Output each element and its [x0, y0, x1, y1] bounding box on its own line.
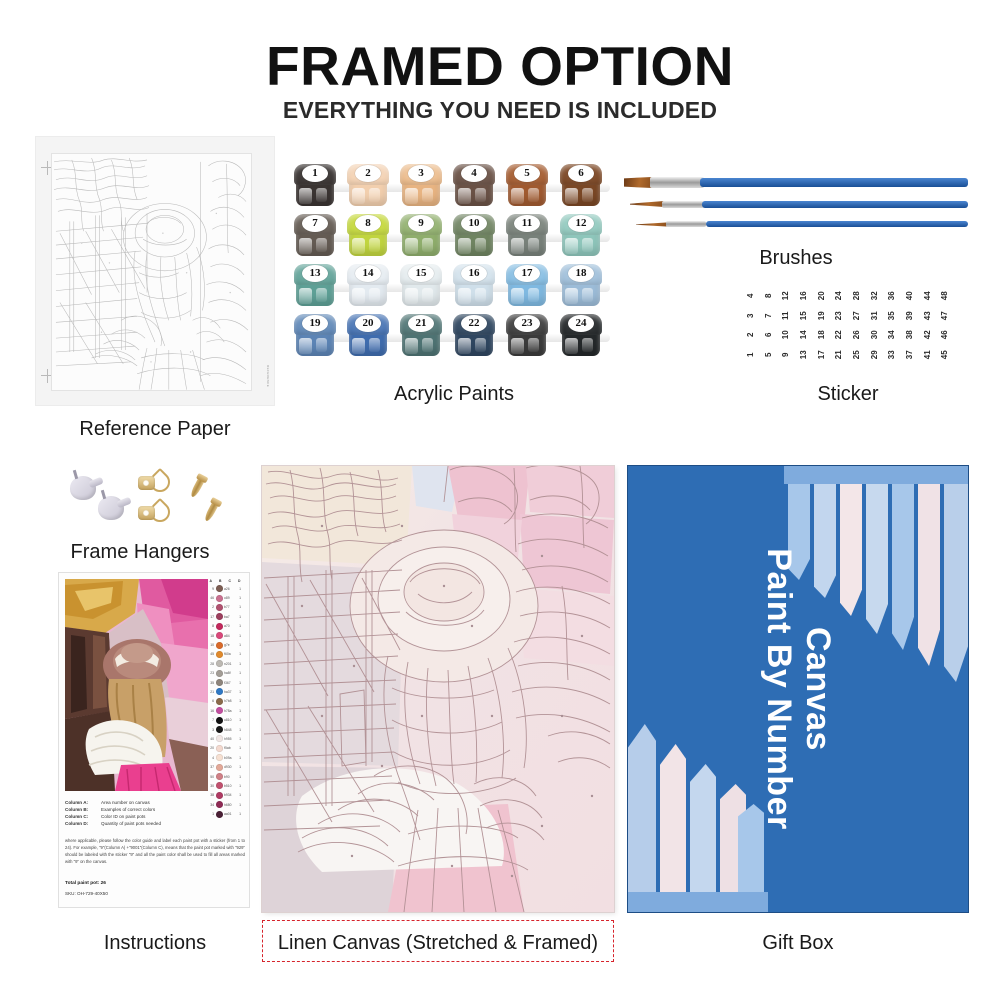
pot-gloss — [582, 338, 593, 352]
legend-quantity: 1 — [237, 784, 241, 788]
pot-gloss — [565, 188, 578, 204]
legend-area-number: 38 — [206, 793, 214, 797]
pot-number: 17 — [522, 268, 533, 279]
acrylic-paints-group: 123456789101112131415161718192021222324 — [294, 164, 614, 360]
gift-box: Canvas Paint By Number — [628, 466, 968, 912]
d-ring-hanger-icon — [138, 472, 170, 494]
pot-number-badge: 18 — [568, 265, 594, 282]
paint-pot-14: 14 — [347, 264, 389, 308]
page-title: FRAMED OPTION — [0, 34, 1000, 98]
pot-gloss — [316, 238, 327, 252]
caption-instructions: Instructions — [30, 932, 280, 955]
pot-gloss — [299, 288, 312, 304]
legend-quantity: 1 — [237, 718, 241, 722]
legend-quantity: 1 — [237, 793, 241, 797]
paint-pot-8: 8 — [347, 214, 389, 258]
instructions-column-label: Column A: — [65, 799, 101, 806]
pot-gloss — [422, 338, 433, 352]
legend-color-swatch — [216, 670, 223, 677]
pot-gloss — [458, 338, 471, 354]
plastic-hook-icon — [98, 496, 124, 520]
pot-number-badge: 15 — [408, 265, 434, 282]
legend-row: 30b5101 — [206, 781, 244, 790]
pot-gloss — [458, 238, 471, 254]
pot-gloss — [565, 288, 578, 304]
sticker-number: 25 — [847, 345, 867, 363]
screw-icon — [203, 500, 220, 523]
pot-number-badge: 16 — [461, 265, 487, 282]
sticker-number: 38 — [900, 326, 920, 344]
legend-row: 16h78a1 — [206, 706, 244, 715]
pot-gloss — [405, 238, 418, 254]
legend-color-swatch — [216, 585, 223, 592]
sticker-number: 26 — [847, 326, 867, 344]
giftbox-text: Canvas Paint By Number — [759, 548, 837, 829]
pot-number-badge: 22 — [461, 315, 487, 332]
pot-gloss — [565, 238, 578, 254]
caption-frame-hangers: Frame Hangers — [0, 541, 280, 564]
pot-number-badge: 13 — [302, 265, 328, 282]
screw-icon — [189, 476, 206, 499]
legend-color-id: ha37 — [224, 690, 237, 694]
giftbox-stripe — [918, 484, 940, 666]
frame-hangers-group — [62, 468, 262, 548]
pot-number: 3 — [418, 168, 424, 179]
legend-color-id: h848 — [224, 728, 237, 732]
pot-gloss — [422, 288, 433, 302]
pot-number: 9 — [418, 218, 424, 229]
legend-row: 40h9551 — [206, 734, 244, 743]
paint-pot-7: 7 — [294, 214, 336, 258]
giftbox-stripe-band-bottom — [628, 892, 768, 912]
legend-row: 35f3671 — [206, 678, 244, 687]
giftbox-stripe — [840, 484, 862, 616]
legend-quantity: 1 — [237, 652, 241, 656]
pot-number-badge: 21 — [408, 315, 434, 332]
legend-row: 10g7e1 — [206, 640, 244, 649]
legend-row: 45f60a1 — [206, 650, 244, 659]
giftbox-stripe — [690, 764, 716, 892]
legend-color-swatch — [216, 679, 223, 686]
legend-color-swatch — [216, 613, 223, 620]
instructions-paragraph: where applicable, please follow the colo… — [65, 837, 245, 865]
legend-area-number: 9 — [206, 587, 214, 591]
sticker-number: 35 — [882, 306, 902, 324]
pot-number-badge: 6 — [568, 165, 594, 182]
pot-number: 4 — [471, 168, 477, 179]
legend-area-number: 30 — [206, 784, 214, 788]
instructions-column-label: Column B: — [65, 806, 101, 813]
instructions-sheet: A B C D 9a26146o8912b77117ba718a70118a84… — [58, 572, 250, 908]
sticker-number: 36 — [882, 287, 902, 305]
paint-pot-3: 3 — [400, 164, 442, 208]
legend-area-number: 4 — [206, 756, 214, 760]
legend-color-id: ha8f — [224, 671, 237, 675]
pot-number: 8 — [365, 218, 371, 229]
legend-row: 46o891 — [206, 593, 244, 602]
legend-color-id: n201 — [224, 662, 237, 666]
pot-number: 13 — [310, 268, 321, 279]
legend-quantity: 1 — [237, 671, 241, 675]
legend-quantity: 1 — [237, 662, 241, 666]
legend-color-swatch — [216, 754, 223, 761]
giftbox-line1: Canvas — [799, 627, 837, 751]
paint-pot-19: 19 — [294, 314, 336, 358]
pot-gloss — [511, 188, 524, 204]
pot-number-badge: 12 — [568, 215, 594, 232]
legend-header-d: D — [238, 579, 240, 583]
paint-pot-13: 13 — [294, 264, 336, 308]
pot-number: 1 — [312, 168, 318, 179]
pot-number: 24 — [576, 318, 587, 329]
sticker-number: 46 — [935, 326, 955, 344]
pot-gloss — [528, 238, 539, 252]
legend-color-id: u810 — [224, 718, 237, 722]
legend-color-swatch — [216, 717, 223, 724]
brush-flat — [624, 178, 968, 187]
legend-quantity: 1 — [237, 681, 241, 685]
sticker-number: 12 — [776, 287, 796, 305]
legend-row: 4b09a1 — [206, 753, 244, 762]
pot-gloss — [369, 238, 380, 252]
legend-color-swatch — [216, 623, 223, 630]
paint-pot-11: 11 — [506, 214, 548, 258]
legend-color-swatch — [216, 764, 223, 771]
instructions-column-desc: Color ID on paint pots — [101, 813, 245, 820]
pot-gloss — [369, 288, 380, 302]
legend-area-number: 2 — [206, 605, 214, 609]
sticker-number: 1 — [741, 345, 761, 363]
giftbox-stripe — [628, 724, 656, 892]
paint-pot-18: 18 — [560, 264, 602, 308]
pot-number: 22 — [469, 318, 480, 329]
sticker-number: 34 — [882, 326, 902, 344]
legend-area-number: 21 — [206, 690, 214, 694]
pot-number: 20 — [363, 318, 374, 329]
legend-area-number: 16 — [206, 709, 214, 713]
legend-row: 6h7b81 — [206, 697, 244, 706]
pot-number: 12 — [576, 218, 587, 229]
legend-row: 8a701 — [206, 622, 244, 631]
pot-number: 16 — [469, 268, 480, 279]
legend-color-swatch — [216, 632, 223, 639]
pot-gloss — [422, 188, 433, 202]
caption-sticker: Sticker — [742, 383, 954, 406]
paint-pot-17: 17 — [506, 264, 548, 308]
pot-gloss — [316, 188, 327, 202]
legend-color-id: a70 — [224, 624, 237, 628]
legend-rows: 9a26146o8912b77117ba718a70118a84110g7e14… — [206, 584, 244, 819]
legend-color-swatch — [216, 782, 223, 789]
sticker-number: 28 — [847, 287, 867, 305]
instructions-artwork-svg — [65, 579, 208, 791]
pot-number-badge: 9 — [408, 215, 434, 232]
instructions-column-desc: Quantity of paint pots needed — [101, 820, 245, 827]
pot-gloss — [582, 188, 593, 202]
brush-handle — [702, 201, 968, 208]
paint-pot-5: 5 — [506, 164, 548, 208]
legend-color-id: ba7 — [224, 615, 237, 619]
legend-quantity: 1 — [237, 690, 241, 694]
sticker-number: 40 — [900, 287, 920, 305]
legend-area-number: 28 — [206, 662, 214, 666]
legend-quantity: 1 — [237, 765, 241, 769]
sticker-number: 23 — [829, 306, 849, 324]
pot-gloss — [299, 238, 312, 254]
pot-number-badge: 11 — [514, 215, 540, 232]
giftbox-stripe — [944, 484, 968, 682]
pot-number: 6 — [578, 168, 584, 179]
paint-pot-23: 23 — [506, 314, 548, 358]
brush-ferrule — [662, 201, 704, 208]
canvas-lineart-svg — [262, 466, 614, 912]
sticker-sheet: 4812162024283236404448371115192327313539… — [742, 286, 954, 364]
linen-canvas — [262, 466, 614, 912]
paint-pot-20: 20 — [347, 314, 389, 358]
legend-color-id: f60a — [224, 652, 237, 656]
paint-pot-21: 21 — [400, 314, 442, 358]
legend-area-number: 10 — [206, 643, 214, 647]
legend-color-swatch — [216, 698, 223, 705]
legend-area-number: 50 — [206, 775, 214, 779]
pot-number: 21 — [416, 318, 427, 329]
legend-quantity: 1 — [237, 709, 241, 713]
legend-row: 18a841 — [206, 631, 244, 640]
instructions-column-row: Column A:Area number on canvas — [65, 799, 245, 806]
legend-color-id: h7b8 — [224, 699, 237, 703]
legend-header-a: A — [210, 579, 212, 583]
pot-number: 15 — [416, 268, 427, 279]
pot-gloss — [352, 238, 365, 254]
legend-quantity: 1 — [237, 643, 241, 647]
pot-number-badge: 23 — [514, 315, 540, 332]
sticker-number: 27 — [847, 306, 867, 324]
pot-number-badge: 7 — [302, 215, 328, 232]
sticker-number: 15 — [794, 306, 814, 324]
caption-brushes: Brushes — [624, 247, 968, 270]
pot-gloss — [299, 338, 312, 354]
sticker-number: 24 — [829, 287, 849, 305]
brush-round-fine — [636, 220, 968, 229]
pot-gloss — [422, 238, 433, 252]
pot-gloss — [511, 288, 524, 304]
pot-gloss — [475, 238, 486, 252]
legend-area-number: 46 — [206, 596, 214, 600]
product-infographic: FRAMED OPTION EVERYTHING YOU NEED IS INC… — [0, 0, 1000, 1000]
legend-color-id: a84 — [224, 634, 237, 638]
legend-color-id: f367 — [224, 681, 237, 685]
brush-ferrule — [666, 221, 706, 227]
pot-gloss — [369, 188, 380, 202]
pot-number: 10 — [469, 218, 480, 229]
instructions-sku: SKU: OH-729-40X50 — [65, 891, 108, 896]
legend-header-c: C — [229, 579, 231, 583]
brush-bristle — [636, 222, 668, 227]
pot-gloss — [511, 338, 524, 354]
sticker-number-grid: 4812162024283236404448371115192327313539… — [742, 286, 954, 364]
sticker-number: 48 — [935, 287, 955, 305]
paint-pot-22: 22 — [453, 314, 495, 358]
legend-color-id: b09a — [224, 756, 237, 760]
sticker-number: 45 — [935, 345, 955, 363]
pot-gloss — [528, 288, 539, 302]
legend-row: 50b901 — [206, 772, 244, 781]
pot-gloss — [582, 238, 593, 252]
legend-quantity: 1 — [237, 737, 241, 741]
pot-number-badge: 5 — [514, 165, 540, 182]
sticker-number: 33 — [882, 345, 902, 363]
pot-number: 18 — [576, 268, 587, 279]
paint-pot-9: 9 — [400, 214, 442, 258]
pot-number-badge: 20 — [355, 315, 381, 332]
pot-gloss — [405, 288, 418, 304]
legend-row: 37d9301 — [206, 762, 244, 771]
pot-number-badge: 2 — [355, 165, 381, 182]
giftbox-stripe-band-top — [784, 466, 968, 484]
caption-reference-paper: Reference Paper — [0, 418, 310, 441]
legend-area-number: 45 — [206, 652, 214, 656]
instructions-column-label: Column C: — [65, 813, 101, 820]
paint-pot-15: 15 — [400, 264, 442, 308]
legend-quantity: 1 — [237, 624, 241, 628]
legend-color-id: g7e — [224, 643, 237, 647]
legend-row: 3h8481 — [206, 725, 244, 734]
sticker-number: 9 — [776, 345, 796, 363]
pot-number-badge: 24 — [568, 315, 594, 332]
pot-number-badge: 17 — [514, 265, 540, 282]
pot-gloss — [458, 188, 471, 204]
caption-gift-box: Gift Box — [628, 932, 968, 955]
sticker-number: 39 — [900, 306, 920, 324]
legend-color-id: b934 — [224, 793, 237, 797]
pot-number: 19 — [310, 318, 321, 329]
instructions-column-row: Column B:Examples of correct colors — [65, 806, 245, 813]
brush-bristle — [630, 201, 664, 207]
legend-header-b: B — [219, 579, 221, 583]
legend-color-swatch — [216, 604, 223, 611]
pot-number-badge: 19 — [302, 315, 328, 332]
legend-quantity: 1 — [237, 756, 241, 760]
paint-pot-16: 16 — [453, 264, 495, 308]
sticker-number: 21 — [829, 345, 849, 363]
legend-color-id: h955 — [224, 737, 237, 741]
legend-area-number: 17 — [206, 615, 214, 619]
page-subtitle: EVERYTHING YOU NEED IS INCLUDED — [0, 97, 1000, 124]
pot-gloss — [475, 188, 486, 202]
legend-color-swatch — [216, 726, 223, 733]
instructions-column-desc: Area number on canvas — [101, 799, 245, 806]
legend-area-number: 18 — [206, 634, 214, 638]
instructions-total-pots: Total paint pot: 26 — [65, 881, 106, 886]
pot-number-badge: 8 — [355, 215, 381, 232]
legend-color-swatch — [216, 595, 223, 602]
pot-number-badge: 14 — [355, 265, 381, 282]
legend-row: 23ha8f1 — [206, 669, 244, 678]
pot-gloss — [316, 288, 327, 302]
legend-color-swatch — [216, 688, 223, 695]
legend-quantity: 1 — [237, 728, 241, 732]
legend-row: 28n2011 — [206, 659, 244, 668]
paint-pot-12: 12 — [560, 214, 602, 258]
sticker-number: 10 — [776, 326, 796, 344]
pot-gloss — [369, 338, 380, 352]
legend-row: 20f5ab1 — [206, 744, 244, 753]
reference-paper-sidenote: REFERENCE — [266, 365, 270, 387]
legend-area-number: 6 — [206, 699, 214, 703]
brush-ferrule — [650, 177, 704, 188]
legend-row: 21ha371 — [206, 687, 244, 696]
legend-color-id: b510 — [224, 784, 237, 788]
pot-gloss — [405, 188, 418, 204]
caption-linen-canvas: Linen Canvas (Stretched & Framed) — [262, 932, 614, 955]
instructions-column-row: Column D:Quantity of paint pots needed — [65, 820, 245, 827]
brushes-group — [624, 172, 968, 252]
caption-acrylic-paints: Acrylic Paints — [294, 383, 614, 406]
pot-number: 7 — [312, 218, 318, 229]
paint-pot-10: 10 — [453, 214, 495, 258]
legend-quantity: 1 — [237, 699, 241, 703]
legend-color-id: o89 — [224, 596, 237, 600]
pot-gloss — [475, 288, 486, 302]
sticker-number: 4 — [741, 287, 761, 305]
sticker-number: 37 — [900, 345, 920, 363]
plastic-hook-icon — [70, 476, 96, 500]
instructions-column-key: Column A:Area number on canvasColumn B:E… — [65, 799, 245, 827]
pot-gloss — [352, 288, 365, 304]
pot-number: 5 — [524, 168, 530, 179]
pot-gloss — [582, 288, 593, 302]
pot-gloss — [511, 238, 524, 254]
paint-pot-6: 6 — [560, 164, 602, 208]
pot-gloss — [475, 338, 486, 352]
legend-color-id: b77 — [224, 605, 237, 609]
sticker-number: 47 — [935, 306, 955, 324]
instructions-color-preview — [65, 579, 208, 791]
d-ring-hanger-icon — [138, 502, 170, 524]
pot-gloss — [352, 338, 365, 354]
legend-color-id: f5ab — [224, 746, 237, 750]
legend-row: 2b771 — [206, 603, 244, 612]
pot-number: 14 — [363, 268, 374, 279]
giftbox-stripe — [866, 484, 888, 634]
sticker-number: 3 — [741, 306, 761, 324]
legend-area-number: 8 — [206, 624, 214, 628]
legend-area-number: 40 — [206, 737, 214, 741]
instructions-column-row: Column C:Color ID on paint pots — [65, 813, 245, 820]
sticker-number: 13 — [794, 345, 814, 363]
pot-number-badge: 10 — [461, 215, 487, 232]
sticker-number: 2 — [741, 326, 761, 344]
reference-lineart-svg — [52, 154, 251, 390]
giftbox-stripe — [892, 484, 914, 650]
legend-area-number: 37 — [206, 765, 214, 769]
sticker-number: 16 — [794, 287, 814, 305]
legend-area-number: 7 — [206, 718, 214, 722]
legend-row: 7u8101 — [206, 715, 244, 724]
pot-number: 11 — [522, 218, 532, 229]
legend-color-swatch — [216, 792, 223, 799]
pot-number: 23 — [522, 318, 533, 329]
reference-paper-artwork — [51, 153, 252, 391]
sticker-number: 22 — [829, 326, 849, 344]
pot-gloss — [458, 288, 471, 304]
sticker-number: 14 — [794, 326, 814, 344]
legend-color-swatch — [216, 660, 223, 667]
pot-gloss — [565, 338, 578, 354]
giftbox-line2: Paint By Number — [760, 548, 798, 829]
legend-color-id: h78a — [224, 709, 237, 713]
paint-pot-24: 24 — [560, 314, 602, 358]
